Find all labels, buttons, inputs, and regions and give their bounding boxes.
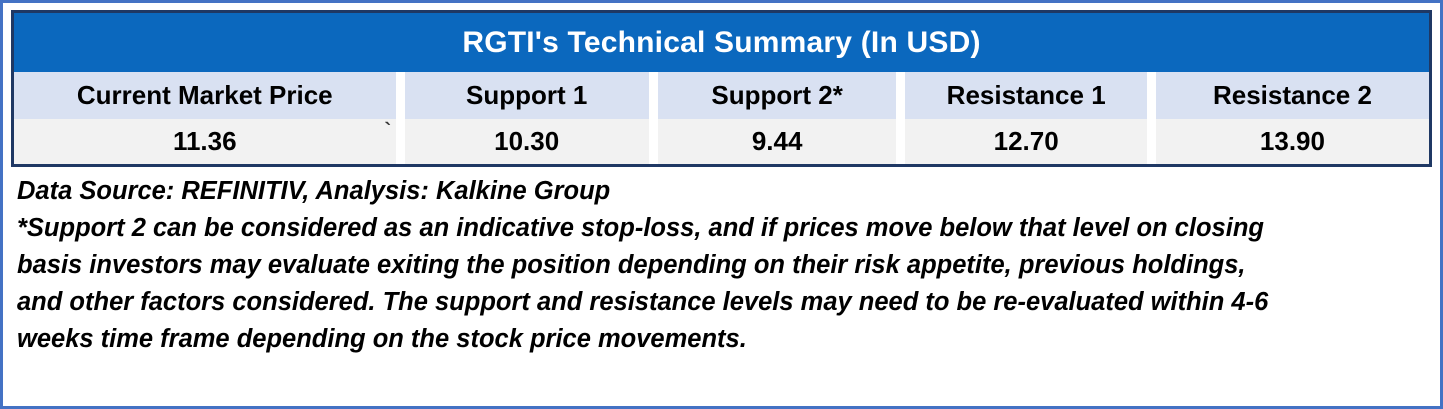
value-resistance-1: 12.70	[905, 119, 1155, 164]
disclaimer-line-2: basis investors may evaluate exiting the…	[17, 247, 1428, 284]
value-support-1-text: 10.30	[494, 126, 559, 156]
summary-table-block: RGTI's Technical Summary (In USD) Curren…	[11, 10, 1432, 167]
value-current-market-price: 11.36	[14, 119, 405, 164]
column-header-support-2: Support 2*	[658, 72, 906, 119]
technical-summary-table: Current Market Price Support 1 Support 2…	[14, 72, 1429, 164]
disclaimer-line-4: weeks time frame depending on the stock …	[17, 321, 1428, 358]
disclaimer-line-1: *Support 2 can be considered as an indic…	[17, 210, 1428, 247]
column-header-current-market-price: Current Market Price	[14, 72, 405, 119]
value-support-1: `10.30	[405, 119, 658, 164]
column-header-resistance-1: Resistance 1	[905, 72, 1155, 119]
value-resistance-2: 13.90	[1156, 119, 1429, 164]
notes-section: Data Source: REFINITIV, Analysis: Kalkin…	[11, 167, 1432, 358]
data-source-line: Data Source: REFINITIV, Analysis: Kalkin…	[17, 173, 1428, 210]
stray-tick-mark: `	[385, 121, 392, 141]
page-title: RGTI's Technical Summary (In USD)	[14, 13, 1429, 72]
column-header-support-1: Support 1	[405, 72, 658, 119]
value-support-2: 9.44	[658, 119, 906, 164]
table-row: 11.36 `10.30 9.44 12.70 13.90	[14, 119, 1429, 164]
disclaimer-line-3: and other factors considered. The suppor…	[17, 284, 1428, 321]
column-header-resistance-2: Resistance 2	[1156, 72, 1429, 119]
technical-summary-card: RGTI's Technical Summary (In USD) Curren…	[0, 0, 1443, 409]
table-header-row: Current Market Price Support 1 Support 2…	[14, 72, 1429, 119]
